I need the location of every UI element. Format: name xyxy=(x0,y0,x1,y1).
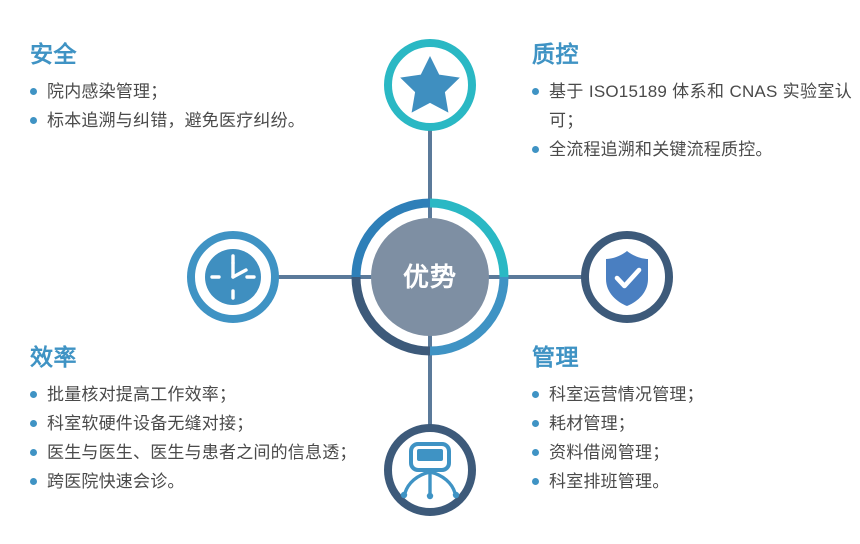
block-efficiency-list: 批量核对提高工作效率； 科室软硬件设备无缝对接； 医生与医生、医生与患者之间的信… xyxy=(30,380,375,496)
bullet-dot-icon xyxy=(30,420,37,427)
list-item-text: 批量核对提高工作效率； xyxy=(47,385,236,404)
list-item: 批量核对提高工作效率； xyxy=(30,380,375,409)
list-item: 跨医院快速会诊。 xyxy=(30,467,375,496)
list-item: 基于 ISO15189 体系和 CNAS 实验室认可； xyxy=(532,77,852,135)
bullet-dot-icon xyxy=(30,88,37,95)
bullet-dot-icon xyxy=(30,478,37,485)
list-item: 医生与医生、医生与患者之间的信息透； xyxy=(30,438,375,467)
list-item: 全流程追溯和关键流程质控。 xyxy=(532,135,852,164)
list-item-text: 科室软硬件设备无缝对接； xyxy=(47,414,253,433)
block-quality-list: 基于 ISO15189 体系和 CNAS 实验室认可； 全流程追溯和关键流程质控… xyxy=(532,77,852,164)
list-item: 资料借阅管理； xyxy=(532,438,852,467)
node-left-clock[interactable] xyxy=(191,235,275,319)
bullet-dot-icon xyxy=(532,391,539,398)
block-quality: 质控 基于 ISO15189 体系和 CNAS 实验室认可； 全流程追溯和关键流… xyxy=(532,42,852,164)
block-quality-title: 质控 xyxy=(532,42,852,67)
block-efficiency-title: 效率 xyxy=(30,345,375,370)
advantages-diagram-page: 优势 xyxy=(0,0,860,544)
list-item: 科室运营情况管理； xyxy=(532,380,852,409)
hub-label: 优势 xyxy=(403,262,457,292)
block-management: 管理 科室运营情况管理； 耗材管理； 资料借阅管理； 科室排班管理。 xyxy=(532,345,852,496)
list-item-text: 医生与医生、医生与患者之间的信息透； xyxy=(47,443,357,462)
node-right-shield[interactable] xyxy=(585,235,669,319)
list-item-text: 全流程追溯和关键流程质控。 xyxy=(549,140,773,159)
block-management-title: 管理 xyxy=(532,345,852,370)
list-item-text: 跨医院快速会诊。 xyxy=(47,472,185,491)
bullet-dot-icon xyxy=(30,449,37,456)
block-safety: 安全 院内感染管理； 标本追溯与纠错，避免医疗纠纷。 xyxy=(30,42,375,135)
bullet-dot-icon xyxy=(532,88,539,95)
center-hub[interactable]: 优势 xyxy=(356,203,504,351)
list-item: 标本追溯与纠错，避免医疗纠纷。 xyxy=(30,106,375,135)
node-bottom-network[interactable] xyxy=(388,428,472,512)
list-item-text: 科室排班管理。 xyxy=(549,472,669,491)
block-efficiency: 效率 批量核对提高工作效率； 科室软硬件设备无缝对接； 医生与医生、医生与患者之… xyxy=(30,345,375,496)
list-item-text: 科室运营情况管理； xyxy=(549,385,704,404)
list-item: 耗材管理； xyxy=(532,409,852,438)
bullet-dot-icon xyxy=(532,420,539,427)
bullet-dot-icon xyxy=(532,146,539,153)
list-item-text: 标本追溯与纠错，避免医疗纠纷。 xyxy=(47,111,305,130)
list-item-text: 院内感染管理； xyxy=(47,82,167,101)
list-item-text: 基于 ISO15189 体系和 CNAS 实验室认可； xyxy=(549,82,852,130)
bullet-dot-icon xyxy=(30,391,37,398)
list-item: 科室软硬件设备无缝对接； xyxy=(30,409,375,438)
node-top-star[interactable] xyxy=(388,43,472,127)
bullet-dot-icon xyxy=(30,117,37,124)
bullet-dot-icon xyxy=(532,449,539,456)
block-safety-title: 安全 xyxy=(30,42,375,67)
list-item: 科室排班管理。 xyxy=(532,467,852,496)
list-item-text: 耗材管理； xyxy=(549,414,635,433)
block-management-list: 科室运营情况管理； 耗材管理； 资料借阅管理； 科室排班管理。 xyxy=(532,380,852,496)
list-item-text: 资料借阅管理； xyxy=(549,443,669,462)
list-item: 院内感染管理； xyxy=(30,77,375,106)
bullet-dot-icon xyxy=(532,478,539,485)
block-safety-list: 院内感染管理； 标本追溯与纠错，避免医疗纠纷。 xyxy=(30,77,375,135)
